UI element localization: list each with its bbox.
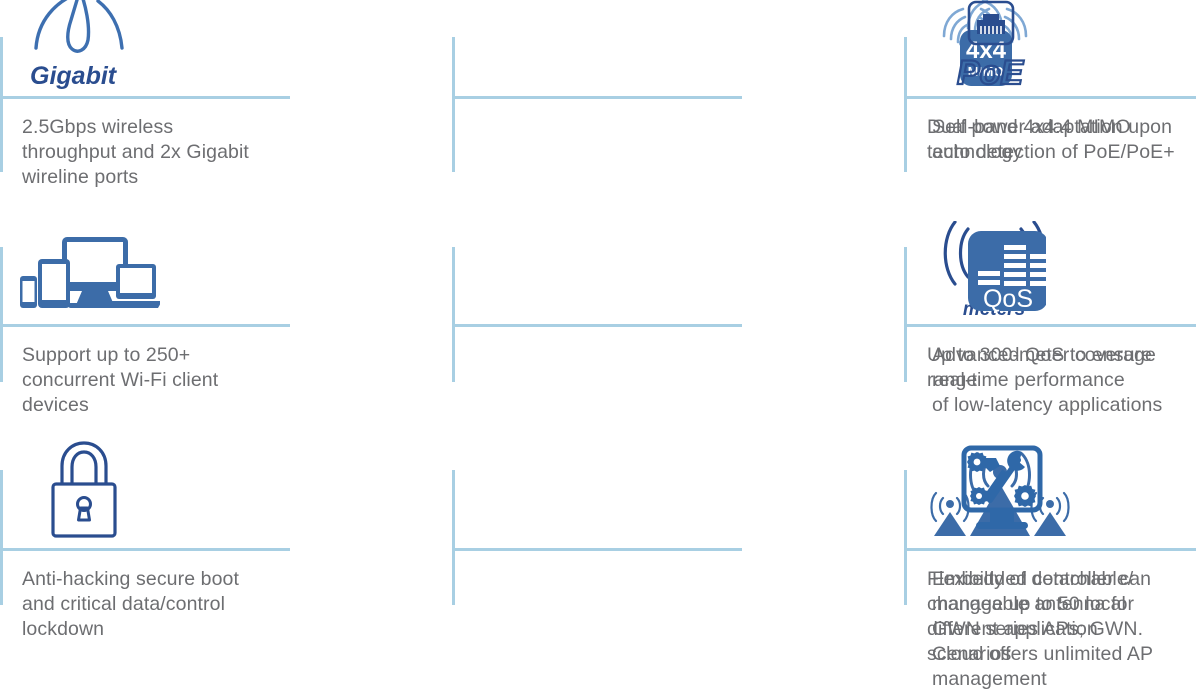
- cell-horizontal-rule: [0, 548, 290, 551]
- cell-horizontal-rule: [452, 96, 742, 99]
- cell-horizontal-rule: [0, 324, 290, 327]
- feature-description: Embedded controller can manage up to 50 …: [932, 567, 1200, 692]
- cell-horizontal-rule: [904, 96, 1196, 99]
- feature-description: Anti-hacking secure boot and critical da…: [22, 567, 312, 642]
- qos-equalizer-icon: QoS: [936, 221, 1046, 321]
- cell-horizontal-rule: [0, 96, 290, 99]
- feature-card-client-capacity: Support up to 250+ concurrent Wi-Fi clie…: [0, 215, 452, 430]
- cell-vertical-rule: [452, 247, 455, 382]
- cell-vertical-rule: [452, 37, 455, 172]
- cell-vertical-rule: [904, 247, 907, 382]
- feature-description: 2.5Gbps wireless throughput and 2x Gigab…: [22, 115, 312, 190]
- poe-port-icon: PoE: [935, 0, 1045, 92]
- multi-device-icon: [20, 221, 160, 321]
- cell-horizontal-rule: [904, 324, 1196, 327]
- cell-vertical-rule: [904, 470, 907, 605]
- feature-card-coverage-range: 300 meters Up to 300-meter coverage rang…: [452, 215, 904, 430]
- feature-description: Support up to 250+ concurrent Wi-Fi clie…: [22, 343, 312, 418]
- feature-card-gigabit-throughput: Gigabit 2.5Gbps wireless throughput and …: [0, 0, 452, 215]
- cell-horizontal-rule: [452, 324, 742, 327]
- feature-card-qos: QoS Advanced QoS to ensure real-time per…: [904, 215, 1200, 430]
- feature-card-secure-boot: Anti-hacking secure boot and critical da…: [0, 430, 452, 672]
- feature-card-detachable-antenna: Flexibilty of detachable/ changeable ant…: [452, 430, 904, 672]
- cell-horizontal-rule: [452, 548, 742, 551]
- cell-vertical-rule: [452, 470, 455, 605]
- padlock-icon: [34, 440, 144, 544]
- feature-description: Advanced QoS to ensure real-time perform…: [932, 343, 1200, 418]
- cell-vertical-rule: [0, 247, 3, 382]
- controller-monitor-icon: [934, 440, 1054, 544]
- cell-vertical-rule: [0, 37, 3, 172]
- feature-card-mimo: 4x4 MIMO Dual-band 4x4:4 MIMO technology: [452, 0, 904, 215]
- qos-label: QoS: [983, 285, 1033, 313]
- cell-vertical-rule: [904, 37, 907, 172]
- feature-grid: Gigabit 2.5Gbps wireless throughput and …: [0, 0, 1200, 672]
- cell-horizontal-rule: [904, 548, 1196, 551]
- gigabit-wordmark: Gigabit: [30, 62, 118, 90]
- feature-card-embedded-controller: Embedded controller can manage up to 50 …: [904, 430, 1200, 672]
- cell-vertical-rule: [0, 470, 3, 605]
- feature-card-poe: PoE Self power adaptation upon auto dete…: [904, 0, 1200, 215]
- poe-wordmark: PoE: [957, 54, 1024, 92]
- gigabit-speed-icon: Gigabit: [22, 0, 140, 92]
- feature-description: Self power adaptation upon auto detectio…: [932, 115, 1200, 165]
